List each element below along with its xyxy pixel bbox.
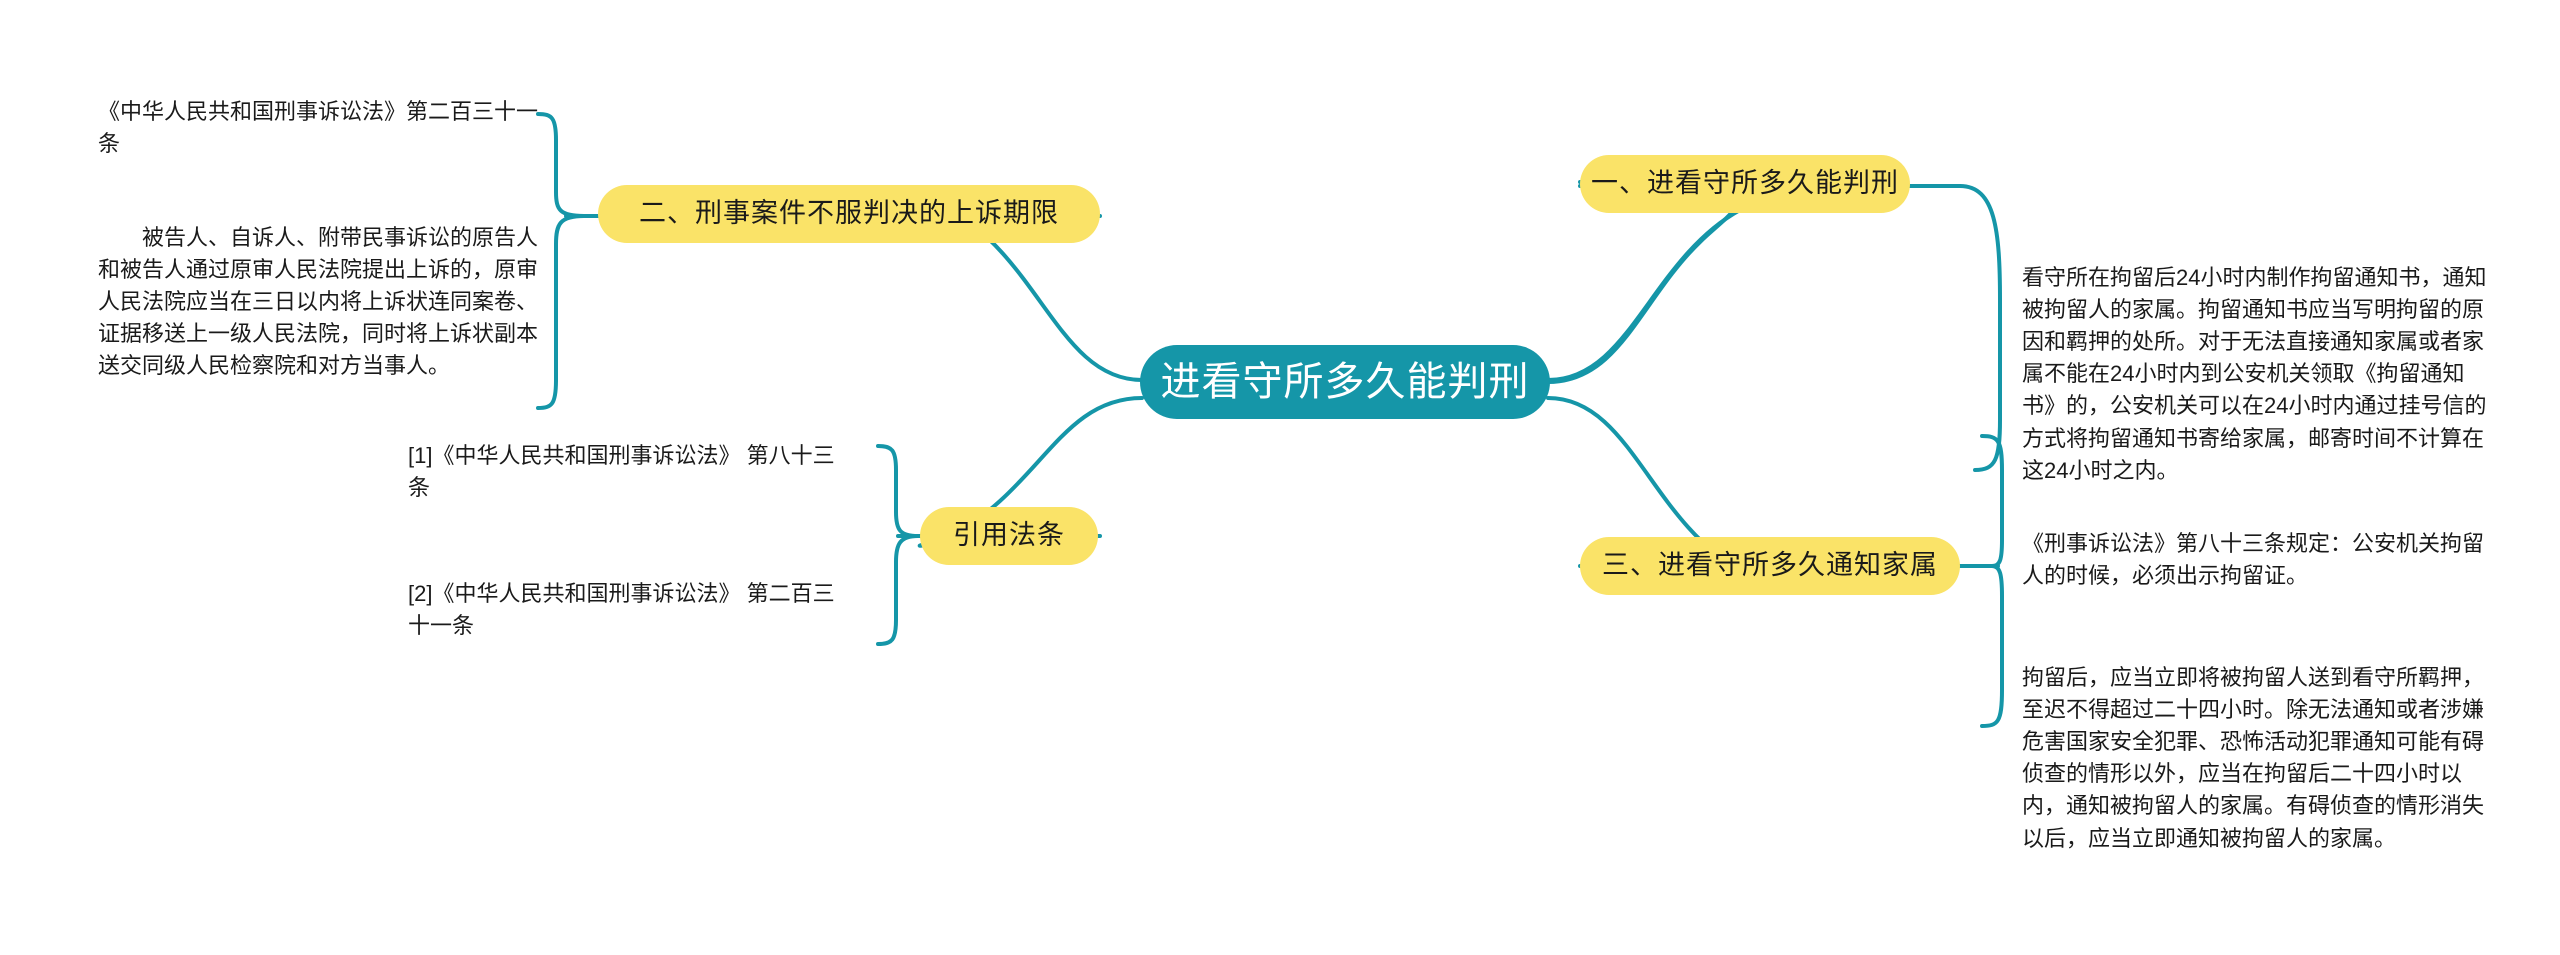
- topic-node-4[interactable]: 引用法条: [920, 507, 1098, 565]
- leaf-text-block-2-1: 《中华人民共和国刑事诉讼法》第二百三十一条: [98, 96, 550, 160]
- leaf-text-block-2-2: 被告人、自诉人、附带民事诉讼的原告人和被告人通过原审人民法院提出上诉的，原审人民…: [98, 222, 550, 383]
- root-node-label: 进看守所多久能判刑: [1161, 359, 1530, 405]
- topic-node-1[interactable]: 一、进看守所多久能判刑: [1580, 155, 1910, 213]
- leaf-text-block-1-1: 看守所在拘留后24小时内制作拘留通知书，通知被拘留人的家属。拘留通知书应当写明拘…: [2022, 262, 2492, 487]
- mindmap-canvas: 进看守所多久能判刑 一、进看守所多久能判刑 二、刑事案件不服判决的上诉期限 三、…: [0, 0, 2560, 955]
- topic-node-3[interactable]: 三、进看守所多久通知家属: [1580, 537, 1960, 595]
- leaf-text-block-4-1: [1]《中华人民共和国刑事诉讼法》 第八十三条: [408, 440, 853, 504]
- root-node[interactable]: 进看守所多久能判刑: [1140, 345, 1550, 419]
- leaf-text-block-3-1: 《刑事诉讼法》第八十三条规定：公安机关拘留人的时候，必须出示拘留证。: [2022, 528, 2492, 592]
- topic-node-4-label: 引用法条: [953, 520, 1065, 551]
- topic-node-2[interactable]: 二、刑事案件不服判决的上诉期限: [598, 185, 1100, 243]
- leaf-text-block-4-2: [2]《中华人民共和国刑事诉讼法》 第二百三十一条: [408, 578, 853, 642]
- topic-node-2-label: 二、刑事案件不服判决的上诉期限: [639, 198, 1059, 229]
- leaf-text-block-3-2: 拘留后，应当立即将被拘留人送到看守所羁押，至迟不得超过二十四小时。除无法通知或者…: [2022, 662, 2492, 855]
- topic-node-3-label: 三、进看守所多久通知家属: [1602, 550, 1938, 581]
- topic-node-1-label: 一、进看守所多久能判刑: [1591, 168, 1899, 199]
